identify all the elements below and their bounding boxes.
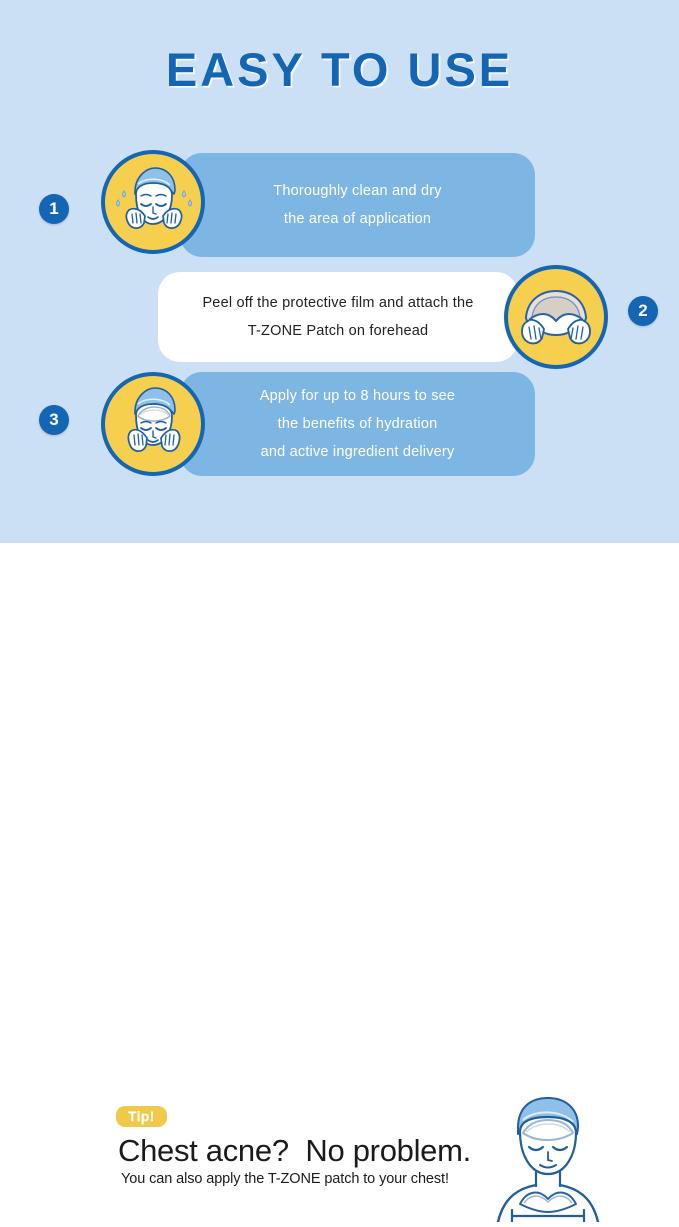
- face-washing-icon: [101, 150, 205, 254]
- step-3-line-2: the benefits of hydration: [278, 410, 438, 438]
- step-1-number-badge: 1: [39, 194, 69, 224]
- instructions-panel: EASY TO USE Thoroughly clean and dry the…: [0, 0, 679, 543]
- step-3-bar: Apply for up to 8 hours to see the benef…: [180, 372, 535, 476]
- page-title: EASY TO USE: [0, 42, 679, 97]
- tip-subline: You can also apply the T-ZONE patch to y…: [121, 1171, 449, 1187]
- step-3-line-3: and active ingredient delivery: [261, 438, 455, 466]
- step-2-number-badge: 2: [628, 296, 658, 326]
- tip-panel: Tip! Chest acne? No problem. You can als…: [0, 543, 679, 679]
- step-1-line-2: the area of application: [284, 205, 431, 233]
- step-1-text: Thoroughly clean and dry the area of app…: [180, 153, 535, 257]
- face-patch-applied-icon: [101, 372, 205, 476]
- step-1-bar: Thoroughly clean and dry the area of app…: [180, 153, 535, 257]
- step-3-text: Apply for up to 8 hours to see the benef…: [180, 372, 535, 476]
- tip-badge: Tip!: [116, 1106, 167, 1127]
- step-2-bar: Peel off the protective film and attach …: [158, 272, 518, 362]
- step-2-text: Peel off the protective film and attach …: [158, 272, 518, 362]
- step-2-line-1: Peel off the protective film and attach …: [202, 289, 473, 317]
- step-3-number-badge: 3: [39, 405, 69, 435]
- step-3-line-1: Apply for up to 8 hours to see: [260, 382, 455, 410]
- peel-patch-hands-icon: [504, 265, 608, 369]
- step-2-line-2: T-ZONE Patch on forehead: [248, 317, 429, 345]
- tip-headline: Chest acne? No problem.: [118, 1133, 471, 1169]
- woman-chest-patch-icon: [468, 1092, 628, 1222]
- step-1-line-1: Thoroughly clean and dry: [273, 177, 441, 205]
- infographic-page: EASY TO USE Thoroughly clean and dry the…: [0, 0, 679, 679]
